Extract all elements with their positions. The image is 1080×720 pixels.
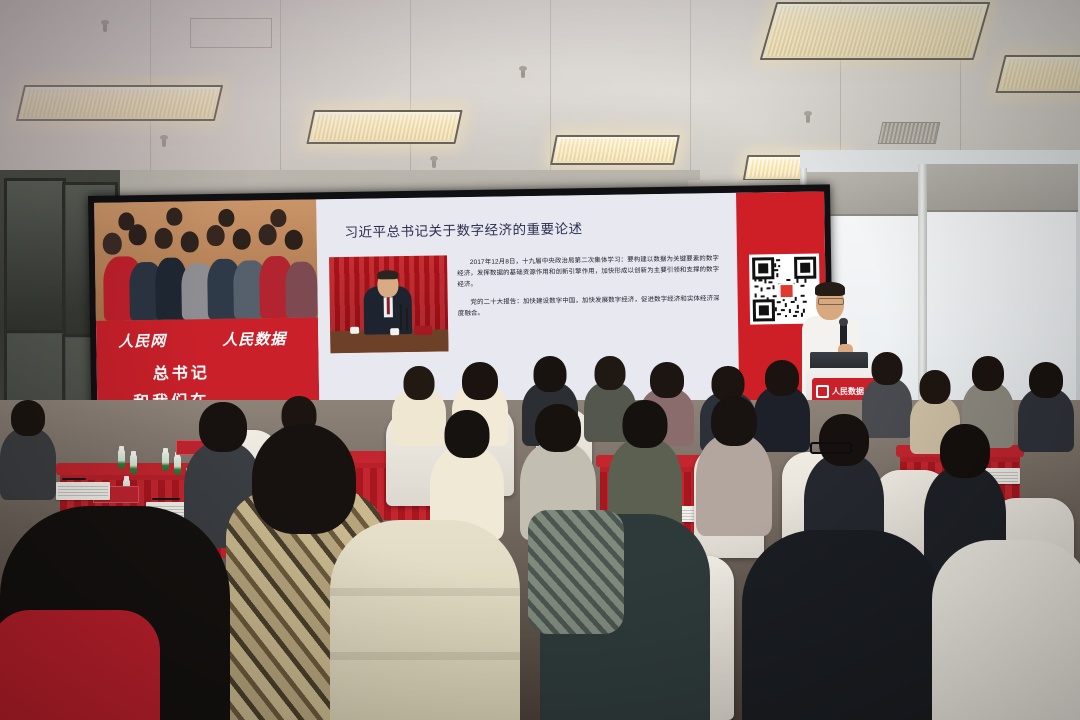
sprinkler-head: [806, 113, 810, 123]
water-bottle: [162, 452, 169, 471]
ceiling-light-panel: [760, 2, 991, 60]
leader-portrait-photo: [329, 255, 448, 353]
audience-member-foreground: [742, 520, 942, 720]
slide-left-panel: 人民网 人民数据 总书记 和我们在: [94, 199, 320, 428]
slide-paragraph-1: 2017年12月8日，十九届中央政治局第二次集体学习：要构建以数据为关键要素的数…: [457, 253, 719, 291]
peoples-data-mark-icon: [816, 385, 829, 398]
ceiling-light-panel: [16, 85, 223, 121]
ceiling-light-panel: [550, 135, 680, 165]
ceiling-light-panel: [306, 110, 462, 144]
slide-body-text: 2017年12月8日，十九届中央政治局第二次集体学习：要构建以数据为关键要素的数…: [457, 253, 720, 325]
peoples-daily-online-logo: 人民网: [118, 330, 166, 352]
slide-title: 习近平总书记关于数字经济的重要论述: [344, 217, 582, 241]
sprinkler-head: [432, 158, 436, 168]
pen: [152, 498, 180, 500]
water-bottle: [130, 455, 137, 474]
water-bottle: [174, 456, 181, 475]
sprinkler-head: [162, 137, 166, 147]
audience-member-foreground: [330, 506, 520, 720]
conference-room-photo: 人民网 人民数据 总书记 和我们在 习近平总书记关于数字经济的重要论述: [0, 0, 1080, 720]
audience-member-foreground: [540, 500, 710, 720]
sprinkler-head: [103, 22, 107, 32]
audience-member-foreground: [0, 506, 230, 720]
notepad: [56, 482, 110, 500]
group-photo: [94, 199, 318, 320]
slide-paragraph-2: 党的二十大报告：加快建设数字中国，加快发展数字经济，促进数字经济和实体经济深度融…: [458, 293, 720, 320]
slogan-line-1: 总书记: [153, 359, 210, 384]
ceiling-vent: [878, 122, 941, 144]
audience-member: [1018, 362, 1074, 452]
qr-center-logo: [778, 283, 794, 299]
water-bottle: [118, 450, 125, 469]
ceiling-light-panel: [995, 55, 1080, 93]
sprinkler-head: [521, 68, 525, 78]
audience-member-foreground: [932, 534, 1080, 720]
podium-logo-text: 人民数据: [832, 386, 864, 397]
roller-blind[interactable]: [924, 164, 1078, 212]
pen: [62, 478, 86, 480]
audience-member: [0, 400, 56, 500]
peoples-data-logo: 人民数据: [222, 328, 286, 350]
